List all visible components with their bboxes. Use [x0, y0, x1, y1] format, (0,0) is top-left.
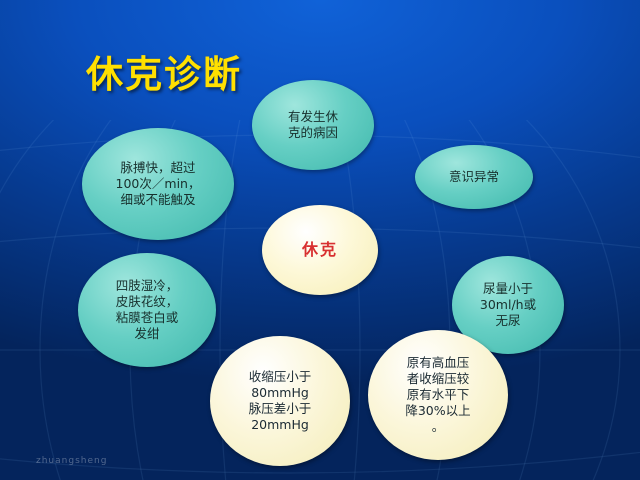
bubble-cause: 有发生休 克的病因 — [252, 80, 374, 170]
bubble-consciousness-text: 意识异常 — [449, 169, 499, 185]
bubble-limbs: 四肢湿冷， 皮肤花纹， 粘膜苍白或 发绀 — [78, 253, 216, 367]
bubble-consciousness: 意识异常 — [415, 145, 533, 209]
bubble-shock-center: 休克 — [262, 205, 378, 295]
slide-canvas: 休克诊断 脉搏快，超过 100次／min， 细或不能触及 有发生休 克的病因 意… — [0, 0, 640, 480]
bubble-hypertension-history: 原有高血压 者收缩压较 原有水平下 降30%以上 。 — [368, 330, 508, 460]
bubble-limbs-text: 四肢湿冷， 皮肤花纹， 粘膜苍白或 发绀 — [116, 278, 179, 342]
bubble-shock-center-label: 休克 — [302, 240, 338, 260]
watermark: zhuangsheng — [36, 456, 107, 466]
bubble-systolic-pressure-text: 收缩压小于 80mmHg 脉压差小于 20mmHg — [249, 369, 312, 433]
bubble-hypertension-history-text: 原有高血压 者收缩压较 原有水平下 降30%以上 。 — [405, 355, 470, 435]
bubble-pulse: 脉搏快，超过 100次／min， 细或不能触及 — [82, 128, 234, 240]
page-title: 休克诊断 — [86, 44, 242, 98]
bubble-cause-text: 有发生休 克的病因 — [288, 109, 338, 141]
bubble-systolic-pressure: 收缩压小于 80mmHg 脉压差小于 20mmHg — [210, 336, 350, 466]
bubble-pulse-text: 脉搏快，超过 100次／min， 细或不能触及 — [116, 160, 201, 208]
bubble-urine-output-text: 尿量小于 30ml/h或 无尿 — [480, 281, 536, 329]
